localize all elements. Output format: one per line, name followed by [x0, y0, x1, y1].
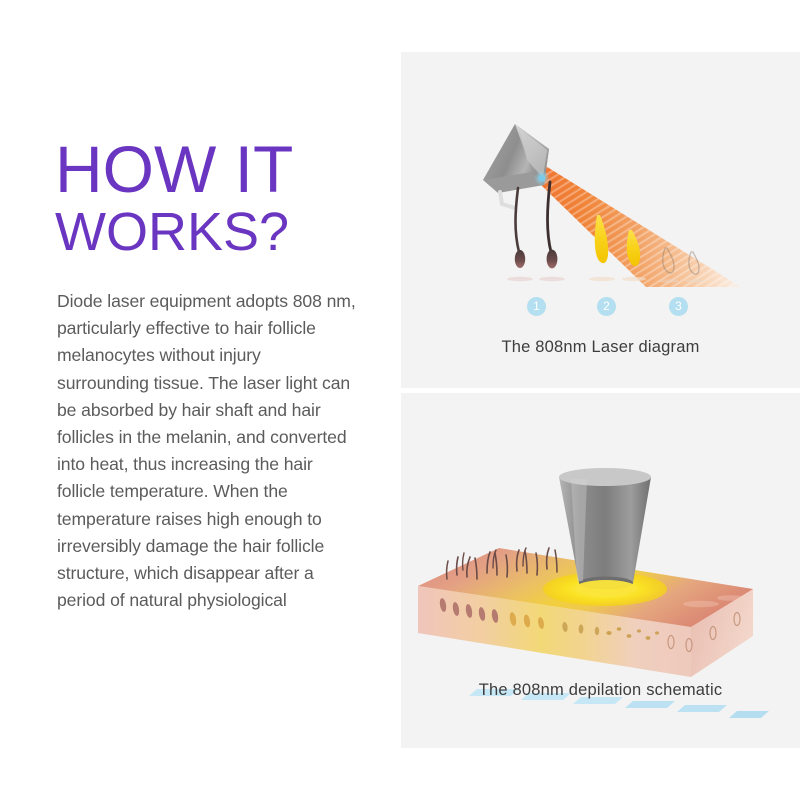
caption-laser-diagram: The 808nm Laser diagram [401, 338, 800, 357]
caption-depilation-schematic: The 808nm depilation schematic [401, 681, 800, 700]
body-paragraph: Diode laser equipment adopts 808 nm, par… [57, 288, 357, 614]
page-title-line-1: HOW IT [55, 138, 385, 201]
stage-badge-3: 3 [669, 297, 688, 316]
stage-badge-2: 2 [597, 297, 616, 316]
stage-badge-1: 1 [527, 297, 546, 316]
stage-badge-row: 1 2 3 [401, 297, 800, 321]
left-text-column: HOW IT WORKS? Diode laser equipment adop… [0, 0, 400, 800]
laser-beam-group [541, 165, 741, 287]
page-title: HOW IT WORKS? [55, 138, 385, 258]
page-root: HOW IT WORKS? Diode laser equipment adop… [0, 0, 800, 800]
panel-depilation-schematic: The 808nm depilation schematic [401, 393, 800, 748]
panel-laser-diagram: 1 2 3 The 808nm Laser diagram [401, 52, 800, 388]
cone-contact-glow [575, 580, 637, 596]
page-title-line-2: WORKS? [55, 207, 385, 258]
laser-beam-texture [541, 165, 741, 287]
